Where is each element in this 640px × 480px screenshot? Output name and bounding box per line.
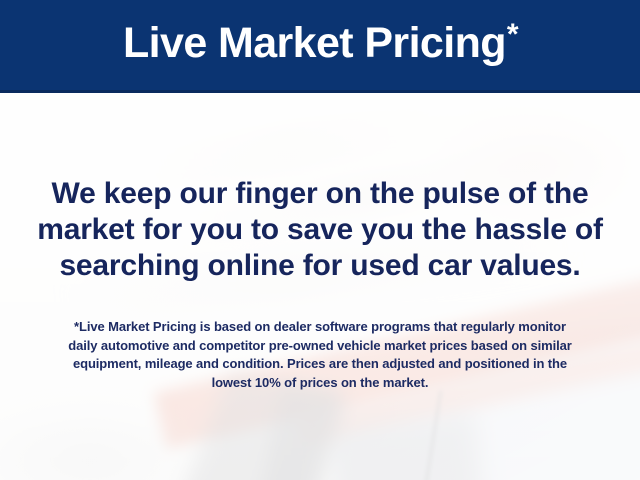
title-asterisk: * [507, 18, 518, 51]
headline-line: searching online for used car values. [0, 248, 640, 284]
headline-line: We keep our finger on the pulse of the [0, 176, 640, 212]
header-banner: Live Market Pricing* [0, 0, 640, 90]
page-title: Live Market Pricing* [123, 22, 517, 65]
header-divider [0, 90, 640, 93]
disclaimer-line: daily automotive and competitor pre-owne… [0, 337, 640, 356]
page-title-text: Live Market Pricing [123, 19, 506, 67]
headline-line: market for you to save you the hassle of [0, 212, 640, 248]
disclaimer: *Live Market Pricing is based on dealer … [0, 318, 640, 392]
disclaimer-line: *Live Market Pricing is based on dealer … [0, 318, 640, 337]
disclaimer-line: equipment, mileage and condition. Prices… [0, 355, 640, 374]
live-market-pricing-promo: Live Market Pricing* We keep our finger … [0, 0, 640, 480]
disclaimer-line: lowest 10% of prices on the market. [0, 374, 640, 393]
headline: We keep our finger on the pulse of the m… [0, 176, 640, 284]
